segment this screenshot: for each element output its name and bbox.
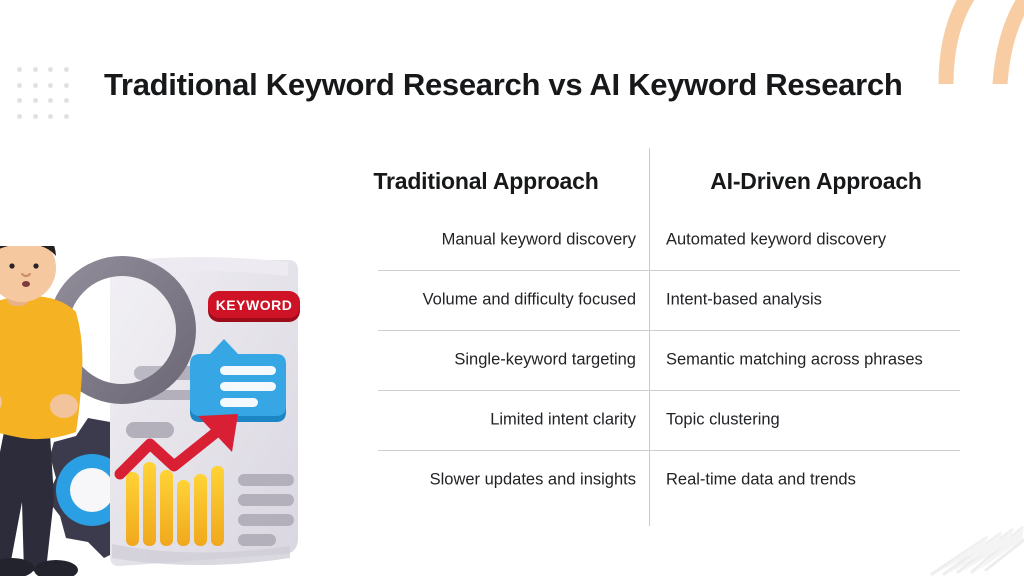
cell-ai: Intent-based analysis [666,289,822,310]
table-row: Volume and difficulty focused Intent-bas… [340,270,974,330]
table-row: Single-keyword targeting Semantic matchi… [340,330,974,390]
cell-traditional: Slower updates and insights [430,469,636,490]
cell-ai: Automated keyword discovery [666,229,886,250]
cell-ai: Semantic matching across phrases [666,349,923,370]
keyword-badge: KEYWORD [208,291,300,322]
column-header-ai: AI-Driven Approach [666,168,966,195]
cell-traditional: Manual keyword discovery [442,229,636,250]
row-separator [378,270,960,271]
comparison-table: Traditional Approach AI-Driven Approach … [340,148,974,528]
row-separator [378,330,960,331]
keyword-research-illustration: KEYWORD [0,246,324,576]
cell-traditional: Volume and difficulty focused [423,289,636,310]
cell-traditional: Limited intent clarity [490,409,636,430]
cell-ai: Real-time data and trends [666,469,856,490]
table-row: Limited intent clarity Topic clustering [340,390,974,450]
keyword-badge-label: KEYWORD [216,297,293,313]
table-row: Manual keyword discovery Automated keywo… [340,210,974,270]
slide-root: Traditional Keyword Research vs AI Keywo… [0,0,1024,576]
cell-ai: Topic clustering [666,409,780,430]
cell-traditional: Single-keyword targeting [454,349,636,370]
column-header-traditional: Traditional Approach [340,168,632,195]
row-separator [378,450,960,451]
table-header-row: Traditional Approach AI-Driven Approach [340,148,974,210]
table-row: Slower updates and insights Real-time da… [340,450,974,510]
page-title: Traditional Keyword Research vs AI Keywo… [104,66,934,103]
row-separator [378,390,960,391]
dot-grid-decoration [12,62,74,124]
